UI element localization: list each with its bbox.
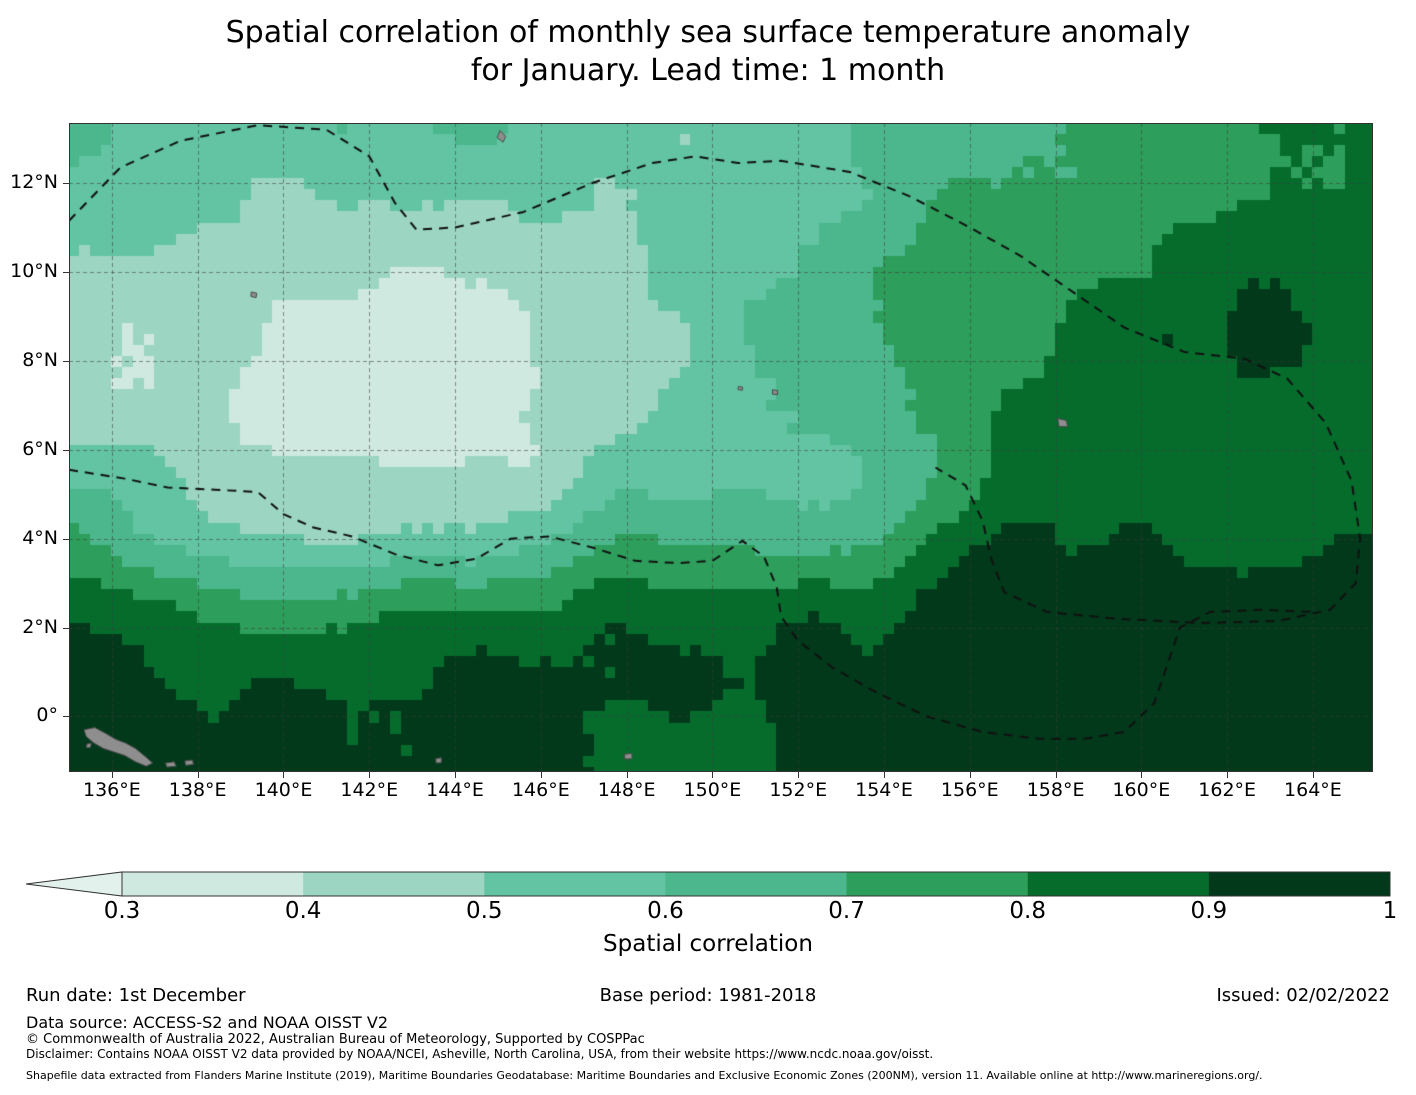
y-tick-mark xyxy=(63,183,69,184)
x-tick-mark xyxy=(884,772,885,778)
colorbar-extend-min-arrow xyxy=(26,872,122,896)
credits-block: Data source: ACCESS-S2 and NOAA OISST V2… xyxy=(26,1013,1406,1061)
issued-date: Issued: 02/02/2022 xyxy=(1216,985,1390,1007)
page-title: Spatial correlation of monthly sea surfa… xyxy=(0,14,1416,90)
y-tick-mark xyxy=(63,361,69,362)
x-tick-label: 162°E xyxy=(1198,781,1256,800)
colorbar-band xyxy=(665,872,847,896)
colorbar-bands xyxy=(0,866,1416,902)
y-tick-label: 2°N xyxy=(22,618,58,637)
y-tick-label: 8°N xyxy=(22,351,58,370)
colorbar-label: Spatial correlation xyxy=(0,931,1416,957)
y-tick-label: 4°N xyxy=(22,529,58,548)
x-tick-mark xyxy=(1313,772,1314,778)
x-tick-mark xyxy=(1141,772,1142,778)
y-tick-mark xyxy=(63,272,69,273)
x-tick-label: 144°E xyxy=(426,781,484,800)
colorbar-tick-label: 0.7 xyxy=(828,900,865,923)
y-tick-mark xyxy=(63,628,69,629)
x-tick-label: 140°E xyxy=(255,781,313,800)
colorbar-band xyxy=(303,872,485,896)
x-tick-mark xyxy=(1056,772,1057,778)
x-tick-mark xyxy=(970,772,971,778)
y-tick-label: 0° xyxy=(36,706,58,725)
colorbar-tick-label: 0.5 xyxy=(466,900,503,923)
colorbar-tick-label: 0.8 xyxy=(1009,900,1046,923)
colorbar-band xyxy=(122,872,304,896)
x-tick-label: 156°E xyxy=(941,781,999,800)
x-tick-label: 138°E xyxy=(169,781,227,800)
shapefile-text: Shapefile data extracted from Flanders M… xyxy=(26,1069,1406,1082)
x-tick-label: 158°E xyxy=(1027,781,1085,800)
metadata-row: Run date: 1st December Base period: 1981… xyxy=(26,985,1390,1007)
x-tick-label: 136°E xyxy=(83,781,141,800)
x-tick-label: 146°E xyxy=(512,781,570,800)
y-tick-mark xyxy=(63,716,69,717)
x-tick-mark xyxy=(198,772,199,778)
x-tick-mark xyxy=(455,772,456,778)
x-tick-mark xyxy=(1227,772,1228,778)
x-tick-mark xyxy=(112,772,113,778)
x-tick-label: 142°E xyxy=(340,781,398,800)
copyright-text: © Commonwealth of Australia 2022, Austra… xyxy=(26,1032,1406,1047)
data-source-text: Data source: ACCESS-S2 and NOAA OISST V2 xyxy=(26,1013,1406,1032)
x-tick-label: 164°E xyxy=(1284,781,1342,800)
colorbar-band xyxy=(1028,872,1210,896)
colorbar-tick-label: 0.6 xyxy=(647,900,684,923)
x-tick-label: 152°E xyxy=(769,781,827,800)
x-tick-mark xyxy=(627,772,628,778)
colorbar-tick-label: 0.9 xyxy=(1191,900,1228,923)
colorbar-tick-label: 1 xyxy=(1383,900,1398,923)
colorbar-tick-label: 0.4 xyxy=(285,900,322,923)
map-plot-area xyxy=(69,123,1373,772)
y-tick-label: 10°N xyxy=(10,262,58,281)
y-tick-mark xyxy=(63,539,69,540)
x-tick-mark xyxy=(712,772,713,778)
x-tick-label: 160°E xyxy=(1112,781,1170,800)
x-tick-mark xyxy=(541,772,542,778)
colorbar xyxy=(0,866,1416,902)
x-tick-label: 154°E xyxy=(855,781,913,800)
y-tick-label: 6°N xyxy=(22,440,58,459)
colorbar-band xyxy=(1209,872,1391,896)
y-tick-label: 12°N xyxy=(10,173,58,192)
x-tick-mark xyxy=(283,772,284,778)
y-tick-mark xyxy=(63,450,69,451)
disclaimer-text: Disclaimer: Contains NOAA OISST V2 data … xyxy=(26,1047,1406,1061)
x-tick-mark xyxy=(369,772,370,778)
colorbar-band xyxy=(484,872,666,896)
correlation-heatmap xyxy=(69,123,1373,772)
x-tick-mark xyxy=(798,772,799,778)
x-tick-label: 148°E xyxy=(598,781,656,800)
x-tick-label: 150°E xyxy=(684,781,742,800)
colorbar-band xyxy=(847,872,1029,896)
base-period: Base period: 1981-2018 xyxy=(26,985,1390,1007)
colorbar-tick-label: 0.3 xyxy=(104,900,141,923)
